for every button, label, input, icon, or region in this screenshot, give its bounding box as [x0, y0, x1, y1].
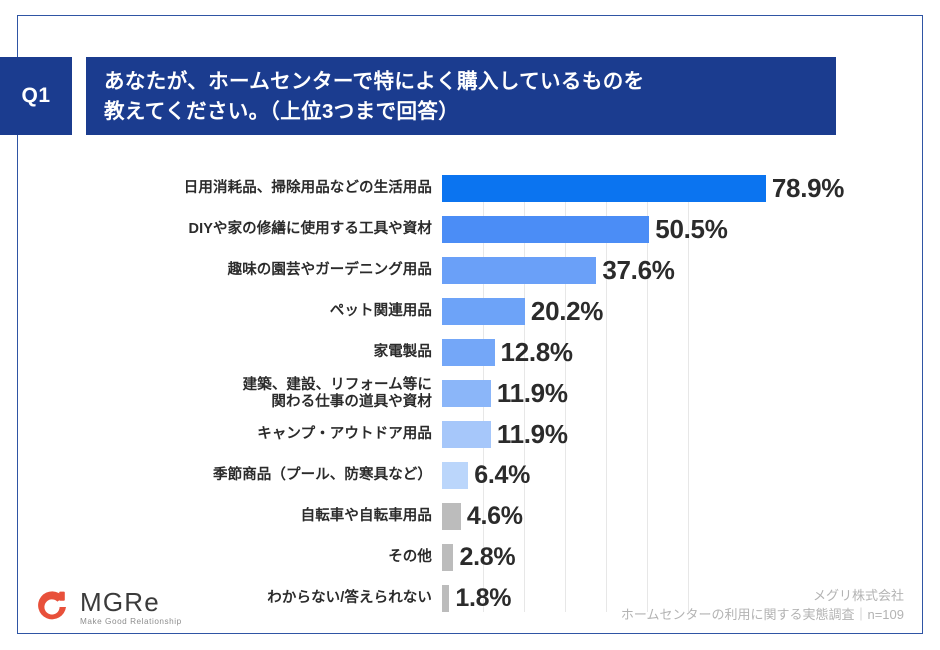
question-title-banner: あなたが、ホームセンターで特によく購入しているものを 教えてください。（上位3つ…: [86, 57, 836, 135]
chart-row: ペット関連用品20.2%: [0, 291, 940, 332]
bar-value-label: 20.2%: [531, 298, 603, 325]
bar: [442, 257, 596, 284]
bar-group: 11.9%: [442, 414, 568, 455]
bar: [442, 503, 461, 530]
bar-value-label: 37.6%: [602, 257, 674, 284]
question-line-1: あなたが、ホームセンターで特によく購入しているものを: [104, 67, 820, 97]
category-label: 季節商品（プール、防寒具など）: [100, 467, 432, 484]
mgre-logo-icon: [33, 588, 71, 626]
bar: [442, 585, 449, 612]
footer-note: メグリ株式会社 ホームセンターの利用に関する実態調査｜n=109: [621, 586, 904, 624]
bar-group: 4.6%: [442, 496, 523, 537]
bar-value-label: 11.9%: [497, 421, 568, 448]
bar-group: 20.2%: [442, 291, 603, 332]
bar: [442, 298, 525, 325]
bar-value-label: 2.8%: [459, 544, 515, 571]
bar-group: 1.8%: [442, 578, 511, 619]
question-number-label: Q1: [21, 84, 50, 108]
slide-canvas: Q1 あなたが、ホームセンターで特によく購入しているものを 教えてください。（上…: [0, 0, 940, 650]
chart-row: 季節商品（プール、防寒具など）6.4%: [0, 455, 940, 496]
chart-row: キャンプ・アウトドア用品11.9%: [0, 414, 940, 455]
bar-value-label: 6.4%: [474, 462, 530, 489]
bar-value-label: 78.9%: [772, 175, 844, 202]
chart-row: 日用消耗品、掃除用品などの生活用品78.9%: [0, 168, 940, 209]
bar-group: 2.8%: [442, 537, 515, 578]
chart-row: DIYや家の修繕に使用する工具や資材50.5%: [0, 209, 940, 250]
bar-value-label: 11.9%: [497, 380, 568, 407]
bar: [442, 380, 491, 407]
bar-group: 37.6%: [442, 250, 675, 291]
mgre-logo-text: MGRe Make Good Relationship: [80, 589, 182, 626]
category-label: 趣味の園芸やガーデニング用品: [100, 262, 432, 279]
footer-survey: ホームセンターの利用に関する実態調査｜n=109: [621, 605, 904, 624]
category-label: 日用消耗品、掃除用品などの生活用品: [100, 180, 432, 197]
mgre-tagline: Make Good Relationship: [80, 617, 182, 626]
mgre-logo: MGRe Make Good Relationship: [33, 588, 182, 626]
chart-row: 家電製品12.8%: [0, 332, 940, 373]
bar-chart: 日用消耗品、掃除用品などの生活用品78.9%DIYや家の修繕に使用する工具や資材…: [0, 168, 940, 618]
chart-row: 建築、建設、リフォーム等に関わる仕事の道具や資材11.9%: [0, 373, 940, 414]
category-label: 自転車や自転車用品: [100, 508, 432, 525]
category-label: 建築、建設、リフォーム等に関わる仕事の道具や資材: [100, 377, 432, 411]
bar-group: 6.4%: [442, 455, 530, 496]
chart-rows: 日用消耗品、掃除用品などの生活用品78.9%DIYや家の修繕に使用する工具や資材…: [0, 168, 940, 619]
bar-value-label: 12.8%: [501, 339, 573, 366]
bar-group: 11.9%: [442, 373, 568, 414]
bar-value-label: 1.8%: [455, 585, 511, 612]
question-line-2: 教えてください。（上位3つまで回答）: [104, 97, 820, 127]
mgre-wordmark: MGRe: [80, 589, 182, 615]
category-label: DIYや家の修繕に使用する工具や資材: [100, 221, 432, 238]
bar: [442, 175, 766, 202]
bar-group: 12.8%: [442, 332, 573, 373]
category-label: ペット関連用品: [100, 303, 432, 320]
question-number-badge: Q1: [0, 57, 72, 135]
chart-row: 趣味の園芸やガーデニング用品37.6%: [0, 250, 940, 291]
footer-company: メグリ株式会社: [621, 586, 904, 605]
category-label: 家電製品: [100, 344, 432, 361]
bar: [442, 462, 468, 489]
bar: [442, 216, 649, 243]
chart-row: 自転車や自転車用品4.6%: [0, 496, 940, 537]
bar: [442, 544, 453, 571]
bar: [442, 421, 491, 448]
bar-group: 50.5%: [442, 209, 728, 250]
chart-row: その他2.8%: [0, 537, 940, 578]
category-label: キャンプ・アウトドア用品: [100, 426, 432, 443]
bar-value-label: 50.5%: [655, 216, 727, 243]
bar-group: 78.9%: [442, 168, 844, 209]
bar: [442, 339, 495, 366]
bar-value-label: 4.6%: [467, 503, 523, 530]
category-label: その他: [100, 549, 432, 566]
